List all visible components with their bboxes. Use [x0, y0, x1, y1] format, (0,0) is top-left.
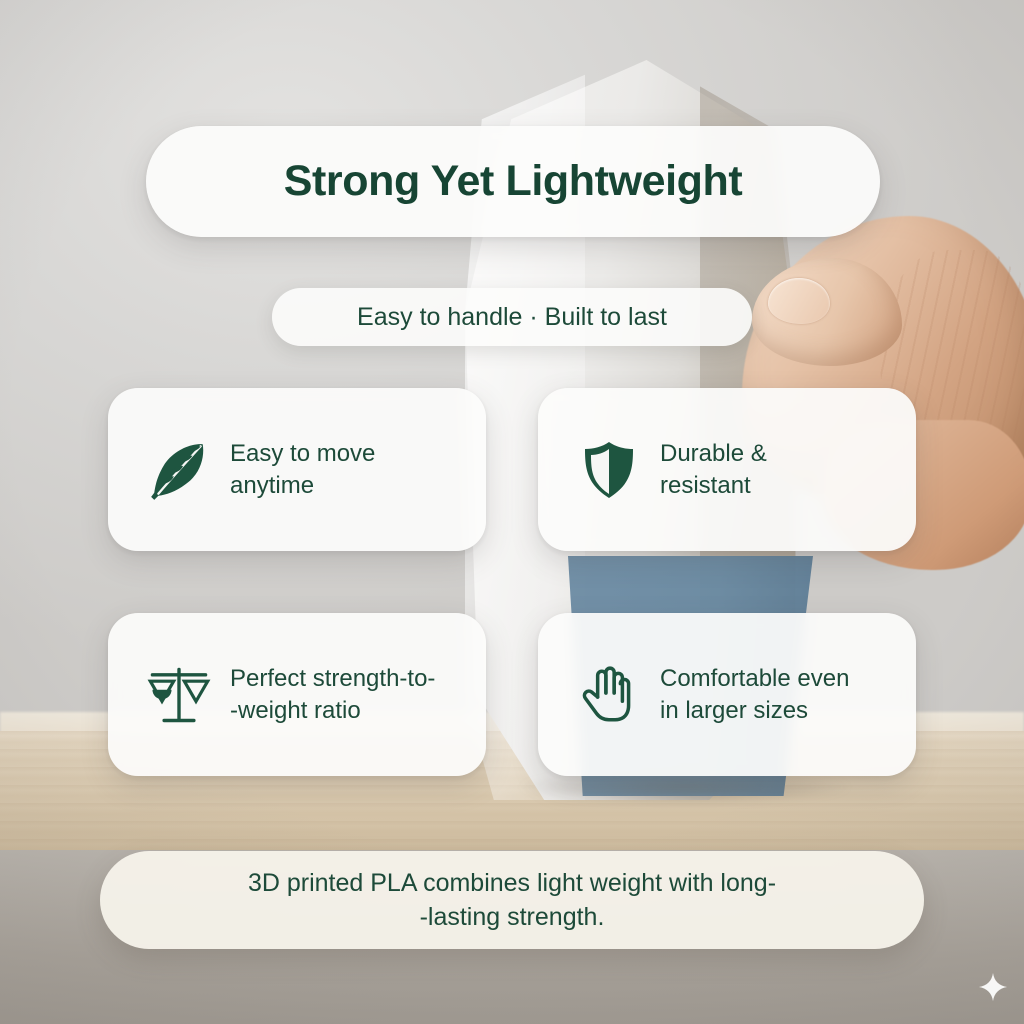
- infographic-overlay: Strong Yet Lightweight Easy to handle · …: [0, 0, 1024, 1024]
- sparkle-icon: [978, 972, 1008, 1002]
- feather-icon: [142, 433, 216, 507]
- feature-card-text: Perfect strength-to- -weight ratio: [230, 663, 435, 726]
- open-hand-icon: [572, 658, 646, 732]
- feature-card-strength-to-weight[interactable]: Perfect strength-to- -weight ratio: [108, 613, 486, 776]
- title-card: Strong Yet Lightweight: [146, 126, 880, 237]
- summary-text: 3D printed PLA combines light weight wit…: [248, 866, 776, 935]
- summary-line-1: 3D printed PLA combines light weight wit…: [248, 869, 776, 897]
- summary-banner: 3D printed PLA combines light weight wit…: [100, 851, 924, 949]
- feature-line-1: Comfortable even: [660, 665, 849, 692]
- page-title: Strong Yet Lightweight: [284, 157, 743, 206]
- feature-line-1: Easy to move: [230, 440, 375, 467]
- feature-line-2: resistant: [660, 472, 751, 499]
- feature-card-durable[interactable]: Durable & resistant: [538, 388, 916, 551]
- feature-card-comfortable[interactable]: Comfortable even in larger sizes: [538, 613, 916, 776]
- feature-card-easy-to-move[interactable]: Easy to move anytime: [108, 388, 486, 551]
- feature-line-1: Perfect strength-to-: [230, 665, 435, 692]
- feature-card-text: Easy to move anytime: [230, 438, 375, 501]
- feature-line-1: Durable &: [660, 440, 767, 467]
- feature-card-text: Comfortable even in larger sizes: [660, 663, 849, 726]
- feature-line-2: -weight ratio: [230, 697, 361, 724]
- feature-line-2: in larger sizes: [660, 697, 808, 724]
- page-subtitle: Easy to handle · Built to last: [357, 303, 667, 332]
- subtitle-pill: Easy to handle · Built to last: [272, 288, 752, 346]
- feature-card-text: Durable & resistant: [660, 438, 767, 501]
- shield-icon: [572, 433, 646, 507]
- summary-line-2: -lasting strength.: [420, 903, 605, 931]
- balance-scale-icon: [142, 658, 216, 732]
- feature-line-2: anytime: [230, 472, 314, 499]
